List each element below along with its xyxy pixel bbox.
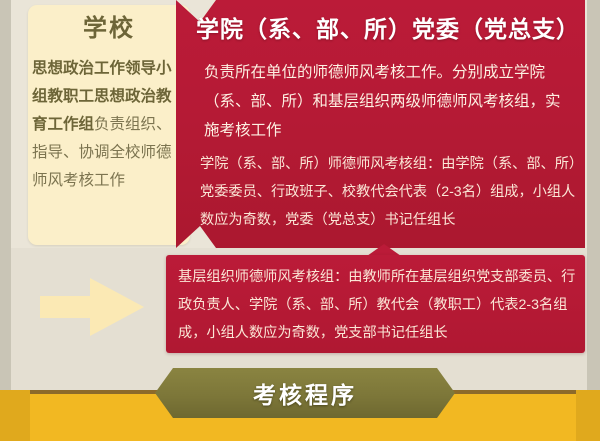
college-ribbon-title: 学院（系、部、所）党委（党总支） bbox=[196, 12, 576, 46]
right-arrow-icon bbox=[38, 272, 148, 342]
college-ribbon-detail-text: 学院（系、部、所）师德师风考核组：由学院（系、部、所）党委委员、行政班子、校教代… bbox=[200, 150, 582, 234]
grassroots-box-text: 基层组织师德师风考核组：由教师所在基层组织党支部委员、行政负责人、学院（系、部、… bbox=[178, 263, 576, 347]
assessment-procedure-label: 考核程序 bbox=[155, 368, 455, 418]
background-left-edge bbox=[0, 0, 11, 441]
college-ribbon-lead-text: 负责所在单位的师德师风考核工作。分别成立学院（系、部、所）和基层组织两级师德师风… bbox=[204, 58, 574, 145]
infographic-canvas: 学校 思想政治工作领导小组教职工思想政治教育工作组负责组织、指导、协调全校师德师… bbox=[0, 0, 600, 441]
school-card-title: 学校 bbox=[28, 12, 190, 46]
bottom-band-right-edge bbox=[576, 390, 600, 441]
bottom-band-left-edge bbox=[0, 390, 30, 441]
background-right-edge bbox=[587, 0, 600, 441]
school-card-body: 思想政治工作领导小组教职工思想政治教育工作组负责组织、指导、协调全校师德师风考核… bbox=[32, 55, 184, 195]
